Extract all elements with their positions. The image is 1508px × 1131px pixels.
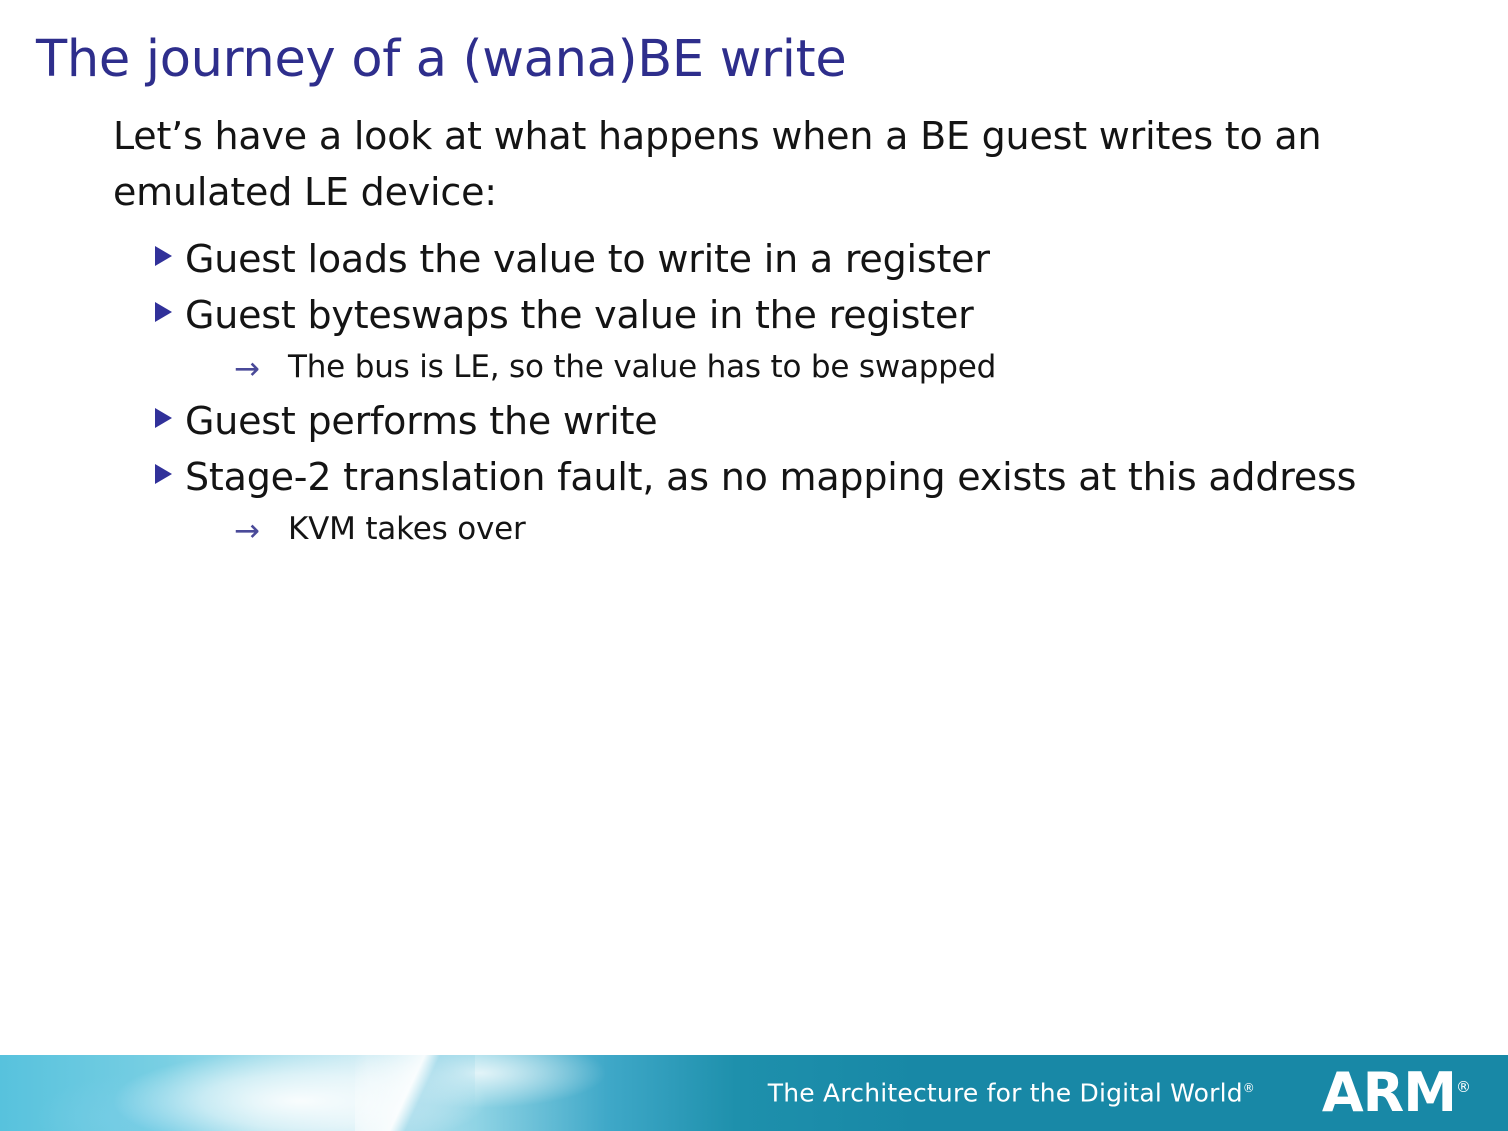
list-item: Guest loads the value to write in a regi… — [0, 233, 1508, 285]
registered-mark: ® — [1456, 1078, 1470, 1096]
arm-logo: ARM® — [1322, 1066, 1470, 1120]
arrow-right-icon: → — [234, 347, 288, 391]
sub-list-item: → The bus is LE, so the value has to be … — [0, 345, 1508, 391]
triangle-bullet-icon — [155, 302, 185, 322]
list-item: Guest performs the write — [0, 395, 1508, 447]
arm-logo-text: ARM — [1322, 1061, 1456, 1124]
sub-list-item-label: KVM takes over — [288, 507, 526, 551]
list-item-label: Stage-2 translation fault, as no mapping… — [185, 451, 1356, 503]
presentation-slide: The journey of a (wana)BE write Let’s ha… — [0, 0, 1508, 1131]
footer-tagline-text: The Architecture for the Digital World — [768, 1079, 1243, 1108]
list-item: Stage-2 translation fault, as no mapping… — [0, 451, 1508, 503]
registered-mark: ® — [1243, 1081, 1255, 1095]
page-title: The journey of a (wana)BE write — [36, 30, 846, 89]
slide-footer: The Architecture for the Digital World® … — [0, 1055, 1508, 1131]
sub-list-item-label: The bus is LE, so the value has to be sw… — [288, 345, 996, 389]
bullet-list: Guest loads the value to write in a regi… — [0, 233, 1508, 557]
triangle-bullet-icon — [155, 408, 185, 428]
list-item-label: Guest performs the write — [185, 395, 657, 447]
triangle-bullet-icon — [155, 464, 185, 484]
list-item-label: Guest byteswaps the value in the registe… — [185, 289, 974, 341]
footer-cloud-highlight — [355, 1055, 475, 1131]
sub-list-item: → KVM takes over — [0, 507, 1508, 553]
triangle-bullet-icon — [155, 246, 185, 266]
list-item-label: Guest loads the value to write in a regi… — [185, 233, 990, 285]
arrow-right-icon: → — [234, 509, 288, 553]
list-item: Guest byteswaps the value in the registe… — [0, 289, 1508, 341]
footer-tagline: The Architecture for the Digital World® — [768, 1079, 1255, 1108]
intro-paragraph: Let’s have a look at what happens when a… — [113, 108, 1393, 220]
